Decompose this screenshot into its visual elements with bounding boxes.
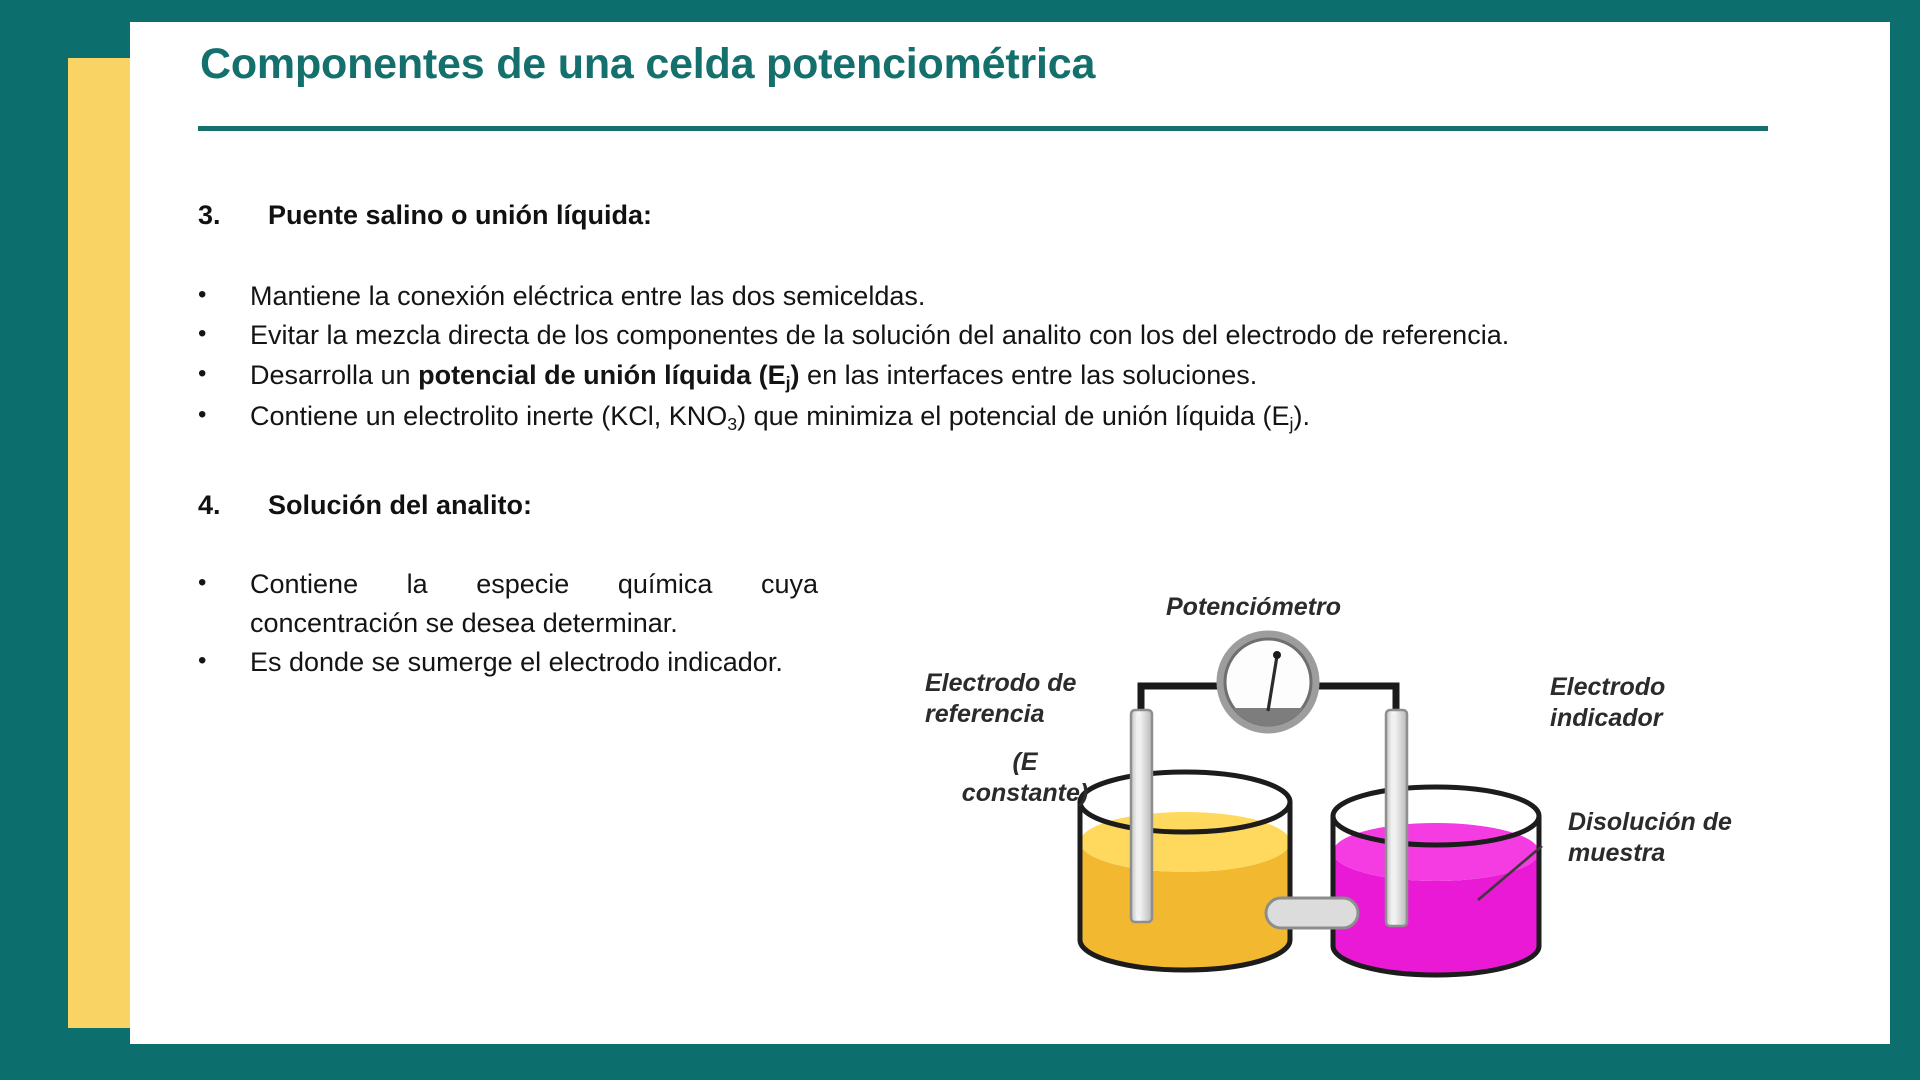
indicator-electrode xyxy=(1386,710,1407,926)
reference-electrode xyxy=(1131,710,1152,922)
page-title: Componentes de una celda potenciométrica xyxy=(200,40,1095,89)
section-4-number: 4. xyxy=(198,490,268,521)
label-reference-electrode: Electrodo de referencia xyxy=(925,668,1076,729)
section-3-number: 3. xyxy=(198,200,268,231)
list-item: • Contiene la especie química cuya conce… xyxy=(198,565,818,642)
salt-bridge xyxy=(1266,898,1358,928)
section-3-heading: 3. Puente salino o unión líquida: xyxy=(198,200,1788,231)
list-item-label: Evitar la mezcla directa de los componen… xyxy=(250,316,1788,354)
section-4-bullet-list: • Contiene la especie química cuya conce… xyxy=(198,565,818,681)
title-underline xyxy=(198,126,1768,131)
potentiometer-gauge xyxy=(1221,635,1316,738)
list-item-label: Contiene la especie química cuya concent… xyxy=(250,565,818,642)
spacer xyxy=(198,235,1788,277)
slide-canvas: Componentes de una celda potenciométrica… xyxy=(0,0,1920,1080)
bullet-icon: • xyxy=(198,277,250,315)
list-item-label: Mantiene la conexión eléctrica entre las… xyxy=(250,277,1788,315)
list-item: • Mantiene la conexión eléctrica entre l… xyxy=(198,277,1788,315)
list-item-label: Es donde se sumerge el electrodo indicad… xyxy=(250,643,818,681)
right-beaker xyxy=(1333,787,1539,975)
bullet-icon: • xyxy=(198,316,250,354)
section-4-title: Solución del analito: xyxy=(268,490,532,521)
potentiometric-cell-diagram: Potenciómetro Electrodo de referencia (E… xyxy=(930,610,1760,1030)
section-3-bullet-list: • Mantiene la conexión eléctrica entre l… xyxy=(198,277,1788,437)
list-item-label: Contiene un electrolito inerte (KCl, KNO… xyxy=(250,397,1788,437)
bullet-icon: • xyxy=(198,356,250,396)
label-sample-solution: Disolución de muestra xyxy=(1568,807,1732,868)
bullet-icon: • xyxy=(198,397,250,437)
bullet-icon: • xyxy=(198,565,250,642)
list-item-label: Desarrolla un potencial de unión líquida… xyxy=(250,356,1788,396)
label-e-constante: (E constante) xyxy=(950,747,1100,808)
list-item: • Contiene un electrolito inerte (KCl, K… xyxy=(198,397,1788,437)
spacer xyxy=(198,525,1788,565)
spacer xyxy=(198,438,1788,490)
list-item: • Es donde se sumerge el electrodo indic… xyxy=(198,643,818,681)
bullet-icon: • xyxy=(198,643,250,681)
left-beaker xyxy=(1080,772,1290,970)
list-item: • Desarrolla un potencial de unión líqui… xyxy=(198,356,1788,396)
section-3-title: Puente salino o unión líquida: xyxy=(268,200,652,231)
label-potentiometer: Potenciómetro xyxy=(1166,592,1341,623)
list-item: • Evitar la mezcla directa de los compon… xyxy=(198,316,1788,354)
section-4-heading: 4. Solución del analito: xyxy=(198,490,1788,521)
label-indicator-electrode: Electrodo indicador xyxy=(1550,672,1665,733)
